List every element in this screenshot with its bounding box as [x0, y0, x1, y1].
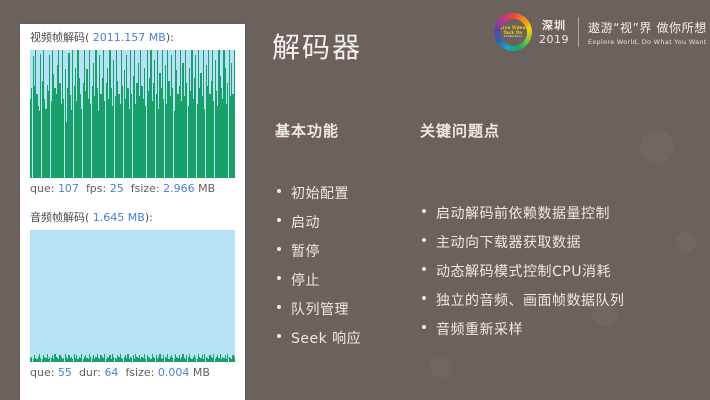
key-issue-item: 动态解码模式控制CPU消耗 — [420, 261, 625, 281]
audio-title-suffix: ): — [145, 211, 153, 224]
video-title-suffix: ): — [166, 31, 174, 44]
video-title-unit: MB — [149, 31, 166, 44]
bokeh-dot — [676, 232, 696, 252]
video-que-value: 107 — [58, 182, 79, 195]
basic-feature-item: 队列管理 — [275, 299, 361, 319]
audio-status-bar: que: 55 dur: 64 fsize: 0.004 MB — [20, 362, 245, 380]
basic-feature-item: 启动 — [275, 212, 361, 232]
logo-inner-disc: Live Video Tack On Conference — [500, 19, 527, 46]
video-fsize-label: fsize: — [131, 182, 160, 195]
video-fsize-unit: MB — [198, 182, 215, 195]
audio-fsize-unit: MB — [193, 366, 210, 379]
audio-title-label: 音频帧解码( — [30, 211, 89, 224]
key-issue-item: 独立的音频、画面帧数据队列 — [420, 290, 625, 310]
video-que-label: que: — [30, 182, 54, 195]
video-title-value: 2011.157 — [93, 31, 146, 44]
tagline-en: Explore World, Do What You Want — [588, 38, 707, 46]
audio-dur-value: 64 — [104, 366, 118, 379]
basic-features-list: 初始配置启动暂停停止队列管理Seek 响应 — [275, 183, 361, 348]
key-issue-item: 主动向下载器获取数据 — [420, 232, 625, 252]
brand-city-year: 深圳 2019 — [539, 18, 569, 46]
video-fsize-value: 2.966 — [163, 182, 195, 195]
video-fps-label: fps: — [86, 182, 106, 195]
video-status-bar: que: 107 fps: 25 fsize: 2.966 MB — [20, 178, 245, 196]
brand-divider — [578, 17, 579, 47]
video-fps-value: 25 — [110, 182, 124, 195]
tagline-cn: 遨游“视”界 做你所想 — [588, 19, 707, 36]
chart-bar — [234, 50, 235, 178]
audio-chart-block: 音频帧解码( 1.645 MB): que: 55 dur: 64 fsize:… — [20, 210, 245, 380]
audio-chart-title: 音频帧解码( 1.645 MB): — [20, 210, 245, 226]
audio-dur-label: dur: — [79, 366, 101, 379]
column-key-issues: 关键问题点 启动解码前依赖数据量控制主动向下载器获取数据动态解码模式控制CPU消… — [420, 120, 625, 348]
chart-bar — [234, 357, 235, 362]
conference-logo-icon: Live Video Tack On Conference — [494, 13, 532, 51]
video-title-label: 视频帧解码( — [30, 31, 89, 44]
key-issues-heading: 关键问题点 — [420, 120, 625, 141]
bokeh-dot — [430, 356, 452, 378]
basic-feature-item: 初始配置 — [275, 183, 361, 203]
slide-root: 视频帧解码( 2011.157 MB): que: 107 fps: 25 fs… — [0, 0, 710, 400]
key-issue-item: 音频重新采样 — [420, 319, 625, 339]
audio-fsize-value: 0.004 — [158, 366, 190, 379]
basic-feature-item: Seek 响应 — [275, 328, 361, 348]
brand-year: 2019 — [539, 33, 569, 46]
basic-features-heading: 基本功能 — [275, 120, 361, 141]
brand-bar: Live Video Tack On Conference 深圳 2019 遨游… — [494, 12, 707, 52]
audio-title-unit: MB — [128, 211, 145, 224]
video-chart-title: 视频帧解码( 2011.157 MB): — [20, 30, 245, 46]
brand-city: 深圳 — [542, 19, 566, 32]
page-title: 解码器 — [272, 26, 362, 66]
decoder-monitor-panel: 视频帧解码( 2011.157 MB): que: 107 fps: 25 fs… — [20, 24, 245, 400]
video-frame-bar-chart — [30, 50, 235, 178]
basic-feature-item: 暂停 — [275, 241, 361, 261]
brand-tagline: 遨游“视”界 做你所想 Explore World, Do What You W… — [588, 19, 707, 46]
logo-line-3: Conference — [504, 35, 523, 39]
audio-que-label: que: — [30, 366, 54, 379]
audio-title-value: 1.645 — [93, 211, 125, 224]
column-basic-features: 基本功能 初始配置启动暂停停止队列管理Seek 响应 — [275, 120, 361, 357]
basic-feature-item: 停止 — [275, 270, 361, 290]
bokeh-dot — [640, 130, 674, 164]
audio-que-value: 55 — [58, 366, 72, 379]
audio-frame-bar-chart — [30, 230, 235, 362]
key-issue-item: 启动解码前依赖数据量控制 — [420, 203, 625, 223]
audio-fsize-label: fsize: — [125, 366, 154, 379]
video-chart-block: 视频帧解码( 2011.157 MB): que: 107 fps: 25 fs… — [20, 30, 245, 196]
key-issues-list: 启动解码前依赖数据量控制主动向下载器获取数据动态解码模式控制CPU消耗独立的音频… — [420, 203, 625, 339]
